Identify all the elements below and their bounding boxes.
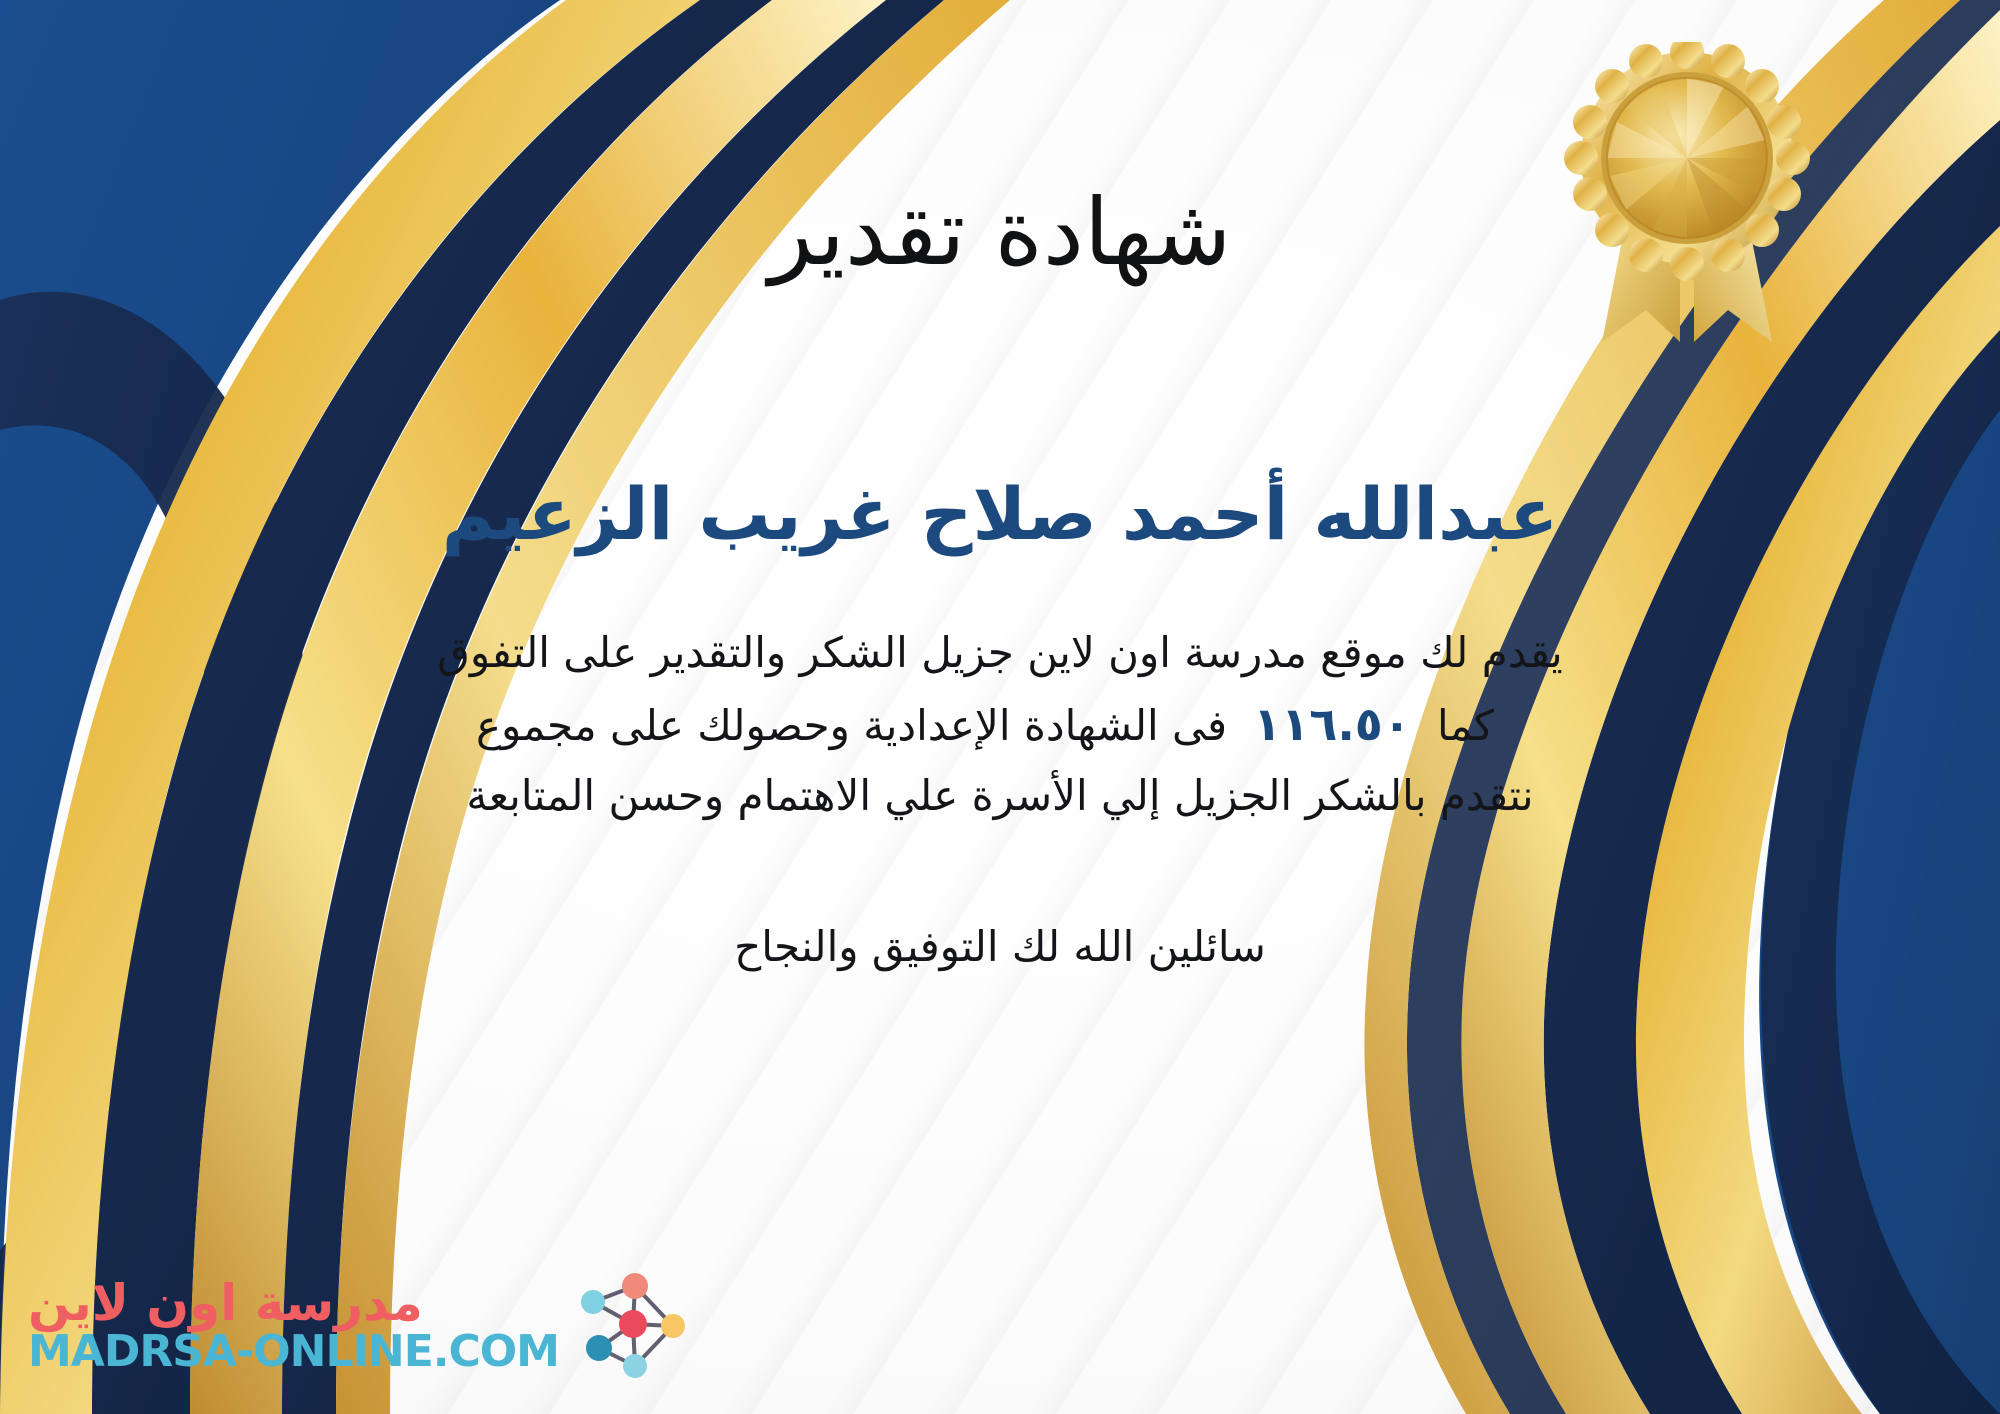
body-line-3: نتقدم بالشكر الجزيل إلي الأسرة علي الاهت… xyxy=(310,762,1690,830)
body-line-1: يقدم لك موقع مدرسة اون لاين جزيل الشكر و… xyxy=(310,619,1690,687)
body-line-2-prefix: فى الشهادة الإعدادية وحصولك على مجموع xyxy=(476,692,1227,760)
certificate-title: شهادة تقدير xyxy=(769,180,1232,286)
certificate-body: يقدم لك موقع مدرسة اون لاين جزيل الشكر و… xyxy=(310,619,1690,830)
body-line-2-suffix: كما xyxy=(1437,692,1524,760)
brand-name-arabic: مدرسة اون لاين xyxy=(28,1277,423,1330)
recipient-name: عبدالله أحمد صلاح غريب الزعيم xyxy=(442,471,1559,557)
certificate-canvas: شهادة تقدير عبدالله أحمد صلاح غريب الزعي… xyxy=(0,0,2000,1414)
body-line-2: كما ١١٦.٥٠ فى الشهادة الإعدادية وحصولك ع… xyxy=(310,687,1690,762)
total-score-value: ١١٦.٥٠ xyxy=(1227,687,1437,762)
brand-name-english: MADRSA-ONLINE.COM xyxy=(28,1329,559,1375)
brand-logo[interactable]: مدرسة اون لاين MADRSA-ONLINE.COM xyxy=(28,1266,693,1386)
network-nodes-icon xyxy=(573,1266,693,1386)
certificate-content: شهادة تقدير عبدالله أحمد صلاح غريب الزعي… xyxy=(0,0,2000,1414)
brand-logo-text: مدرسة اون لاين MADRSA-ONLINE.COM xyxy=(28,1277,559,1376)
closing-wish: سائلين الله لك التوفيق والنجاح xyxy=(734,922,1266,971)
